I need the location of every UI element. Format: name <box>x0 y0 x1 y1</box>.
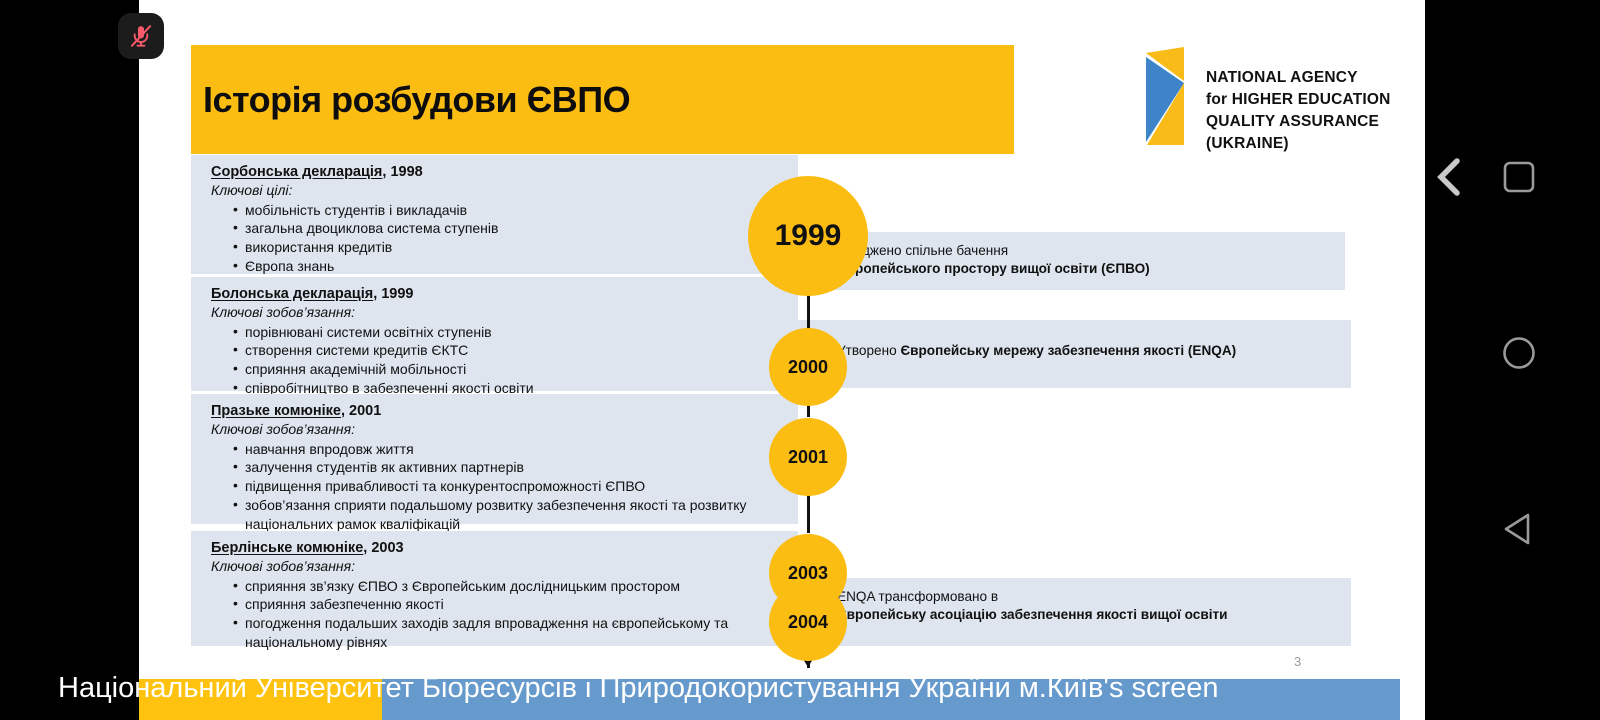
card-bullets: навчання впродовж життя залучення студен… <box>211 440 784 534</box>
card-bullets: сприяння зв’язку ЄПВО з Європейським дос… <box>211 577 784 652</box>
list-item: сприяння зв’язку ЄПВО з Європейським дос… <box>233 577 784 596</box>
timeline-segment <box>807 294 810 332</box>
timeline-node-2000: 2000 <box>769 328 847 406</box>
callout-lead: Утворено <box>837 343 900 358</box>
card-title-underlined: Сорбонська декларація <box>211 164 382 180</box>
home-circle-button[interactable] <box>1499 333 1539 373</box>
list-item: використання кредитів <box>233 238 784 257</box>
card-title: Сорбонська декларація, 1998 <box>211 163 784 181</box>
list-item: Європа знань <box>233 257 784 276</box>
card-prague: Празьке комюніке, 2001 Ключові зобов’яза… <box>191 394 798 524</box>
list-item: сприяння академічній мобільності <box>233 360 784 379</box>
card-subtitle: Ключові зобов’язання: <box>211 304 784 322</box>
logo-line-2: for HIGHER EDUCATION <box>1206 89 1396 111</box>
list-item: сприяння забезпеченню якості <box>233 595 784 614</box>
card-title-underlined: Берлінське комюніке <box>211 540 363 556</box>
list-item: створення системи кредитів ЄКТС <box>233 341 784 360</box>
list-item: загальна двоциклова система ступенів <box>233 219 784 238</box>
callout-body: Європейську асоціацію забезпечення якост… <box>837 607 1228 622</box>
card-bologna: Болонська декларація, 1999 Ключові зобов… <box>191 277 798 391</box>
list-item: зобов’язання сприяти подальшому розвитку… <box>233 496 784 534</box>
slide-page-number: 3 <box>1294 654 1301 669</box>
card-sorbonne: Сорбонська декларація, 1998 Ключові цілі… <box>191 155 798 274</box>
list-item: порівнювані системи освітніх ступенів <box>233 323 784 342</box>
card-subtitle: Ключові зобов’язання: <box>211 558 784 576</box>
card-title-rest: , 2001 <box>341 403 381 419</box>
naqa-logo: NATIONAL AGENCY for HIGHER EDUCATION QUA… <box>1134 45 1394 150</box>
card-title-rest: , 1998 <box>382 164 422 180</box>
card-subtitle: Ключові цілі: <box>211 182 784 200</box>
card-title-underlined: Болонська декларація <box>211 286 373 302</box>
presentation-slide: Історія розбудови ЄВПО NATIONAL AGENCY f… <box>139 0 1425 720</box>
callout-lead: ENQA трансформовано в <box>837 589 998 604</box>
timeline-node-2001: 2001 <box>769 418 847 496</box>
list-item: підвищення привабливості та конкурентосп… <box>233 477 784 496</box>
list-item: мобільність студентів і викладачів <box>233 201 784 220</box>
timeline-node-1999: 1999 <box>748 176 868 296</box>
card-title-rest: , 2003 <box>363 540 403 556</box>
microphone-muted-icon <box>127 22 155 50</box>
list-item: погодження подальших заходів задля впров… <box>233 614 784 652</box>
timeline-node-year: 2000 <box>788 357 828 378</box>
logo-line-3: QUALITY ASSURANCE <box>1206 111 1396 133</box>
screen-share-stage: Історія розбудови ЄВПО NATIONAL AGENCY f… <box>0 0 1600 720</box>
card-title-rest: , 1999 <box>373 286 413 302</box>
card-title-underlined: Празьке комюніке <box>211 403 341 419</box>
card-subtitle: Ключові зобов’язання: <box>211 421 784 439</box>
timeline-node-year: 2004 <box>788 612 828 633</box>
timeline-node-year: 1999 <box>775 219 842 253</box>
card-title: Болонська декларація, 1999 <box>211 285 784 303</box>
collapse-chevron-left-button[interactable] <box>1432 155 1466 199</box>
naqa-logo-mark <box>1134 45 1196 150</box>
logo-line-1: NATIONAL AGENCY <box>1206 67 1396 89</box>
card-title: Берлінське комюніке, 2003 <box>211 539 784 557</box>
back-triangle-button[interactable] <box>1500 510 1538 548</box>
screen-share-caption: Національний Університет Біоресурсів і П… <box>58 672 1398 716</box>
callout-1999: узгоджено спільне бачення Європейського … <box>784 232 1345 290</box>
card-bullets: порівнювані системи освітніх ступенів ст… <box>211 323 784 398</box>
callout-2004: ENQA трансформовано в Європейську асоціа… <box>784 578 1351 646</box>
callout-body: Європейську мережу забезпечення якості (… <box>900 343 1236 358</box>
card-bullets: мобільність студентів і викладачів загал… <box>211 201 784 276</box>
logo-line-4: (UKRAINE) <box>1206 133 1396 155</box>
callout-body: Європейського простору вищої освіти (ЄПВ… <box>837 261 1150 276</box>
list-item: залучення студентів як активних партнері… <box>233 458 784 477</box>
callout-2000: Утворено Європейську мережу забезпечення… <box>784 320 1351 388</box>
naqa-logo-text: NATIONAL AGENCY for HIGHER EDUCATION QUA… <box>1206 67 1396 155</box>
card-title: Празьке комюніке, 2001 <box>211 402 784 420</box>
timeline-node-year: 2001 <box>788 447 828 468</box>
timeline-node-2004: 2004 <box>769 583 847 661</box>
page-title: Історія розбудови ЄВПО <box>203 79 630 121</box>
recents-square-button[interactable] <box>1500 158 1538 196</box>
slide-title-banner: Історія розбудови ЄВПО <box>191 45 1014 154</box>
list-item: навчання впродовж життя <box>233 440 784 459</box>
card-berlin: Берлінське комюніке, 2003 Ключові зобов’… <box>191 531 798 646</box>
mic-muted-badge[interactable] <box>118 13 164 59</box>
timeline-node-year: 2003 <box>788 563 828 584</box>
